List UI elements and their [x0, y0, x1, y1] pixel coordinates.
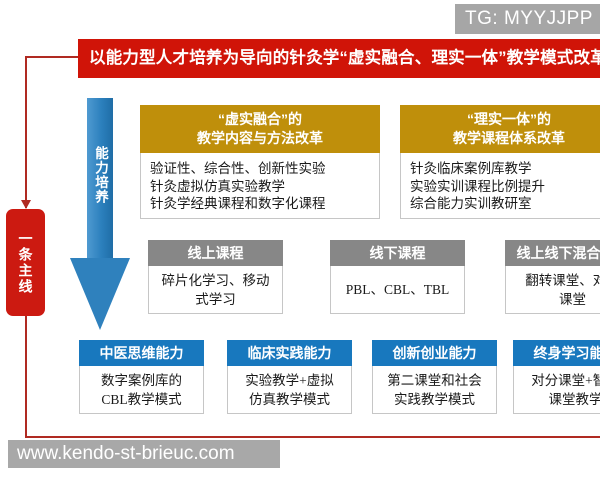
- gray-card-1-body: PBL、CBL、TBL: [330, 266, 465, 314]
- gold-card-0-body-line-2: 针灸学经典课程和数字化课程: [150, 194, 371, 212]
- gray-card-1-header: 线下课程: [330, 240, 465, 266]
- blue-card-2-header: 创新创业能力: [372, 340, 497, 366]
- gray-card-0-body-line-1: 式学习: [154, 290, 277, 309]
- blue-card-3-body-line-0: 对分课堂+智慧: [519, 371, 600, 390]
- gold-card-0-body: 验证性、综合性、创新性实验 针灸虚拟仿真实验教学 针灸学经典课程和数字化课程: [140, 153, 380, 219]
- connector-line-vertical-upper: [25, 56, 27, 208]
- gray-card-2: 线上线下混合课程 翻转课堂、对分 课堂: [505, 240, 600, 314]
- blue-card-1-header: 临床实践能力: [227, 340, 352, 366]
- gray-card-2-body-line-1: 课堂: [511, 290, 600, 309]
- gray-card-0-body-line-0: 碎片化学习、移动: [154, 271, 277, 290]
- main-line-badge: 一条主线: [6, 209, 45, 316]
- capability-arrow: 能力培养: [70, 98, 130, 330]
- blue-card-0-header: 中医思维能力: [79, 340, 204, 366]
- blue-card-0-body-line-0: 数字案例库的: [85, 371, 198, 390]
- gold-card-1-header-line1: “理实一体”的: [467, 110, 551, 129]
- blue-card-3: 终身学习能力 对分课堂+智慧 课堂教学: [513, 340, 600, 414]
- gray-card-1: 线下课程 PBL、CBL、TBL: [330, 240, 465, 314]
- connector-arrow-icon: [21, 200, 31, 209]
- blue-card-1: 临床实践能力 实验教学+虚拟 仿真教学模式: [227, 340, 352, 414]
- blue-card-0: 中医思维能力 数字案例库的 CBL教学模式: [79, 340, 204, 414]
- blue-card-2: 创新创业能力 第二课堂和社会 实践教学模式: [372, 340, 497, 414]
- gold-card-0: “虚实融合”的 教学内容与方法改革 验证性、综合性、创新性实验 针灸虚拟仿真实验…: [140, 105, 380, 220]
- blue-card-2-body-line-0: 第二课堂和社会: [378, 371, 491, 390]
- blue-card-0-body: 数字案例库的 CBL教学模式: [79, 366, 204, 414]
- title-banner: 以能力型人才培养为导向的针灸学“虚实融合、理实一体”教学模式改革: [78, 39, 600, 78]
- blue-card-3-body: 对分课堂+智慧 课堂教学: [513, 366, 600, 414]
- gold-card-0-header: “虚实融合”的 教学内容与方法改革: [140, 105, 380, 153]
- blue-card-1-body: 实验教学+虚拟 仿真教学模式: [227, 366, 352, 414]
- gold-card-1-header: “理实一体”的 教学课程体系改革: [400, 105, 600, 153]
- gray-card-1-body-line-0: PBL、CBL、TBL: [336, 280, 459, 299]
- gray-card-2-header: 线上线下混合课程: [505, 240, 600, 266]
- blue-card-2-body-line-1: 实践教学模式: [378, 390, 491, 409]
- gold-card-1: “理实一体”的 教学课程体系改革 针灸临床案例库教学 实验实训课程比例提升 综合…: [400, 105, 600, 220]
- gray-card-0-body: 碎片化学习、移动 式学习: [148, 266, 283, 314]
- blue-card-1-body-line-1: 仿真教学模式: [233, 390, 346, 409]
- gold-card-1-body-line-2: 综合能力实训教研室: [410, 194, 600, 212]
- blue-card-3-header: 终身学习能力: [513, 340, 600, 366]
- site-watermark: www.kendo-st-brieuc.com: [8, 440, 280, 468]
- gold-card-0-header-line1: “虚实融合”的: [218, 110, 302, 129]
- gold-card-1-header-line2: 教学课程体系改革: [453, 129, 565, 148]
- blue-card-2-body: 第二课堂和社会 实践教学模式: [372, 366, 497, 414]
- arrow-label: 能力培养: [70, 146, 130, 242]
- gold-card-0-header-line2: 教学内容与方法改革: [197, 129, 323, 148]
- gray-card-0-header: 线上课程: [148, 240, 283, 266]
- gold-card-0-body-line-1: 针灸虚拟仿真实验教学: [150, 177, 371, 195]
- gold-card-1-body-line-0: 针灸临床案例库教学: [410, 159, 600, 177]
- blue-card-3-body-line-1: 课堂教学: [519, 390, 600, 409]
- blue-card-1-body-line-0: 实验教学+虚拟: [233, 371, 346, 390]
- connector-line-vertical-lower: [25, 316, 27, 437]
- tg-watermark-badge: TG: MYYJJPP: [455, 4, 600, 34]
- gray-card-2-body: 翻转课堂、对分 课堂: [505, 266, 600, 314]
- gold-card-1-body: 针灸临床案例库教学 实验实训课程比例提升 综合能力实训教研室: [400, 153, 600, 219]
- connector-line-top: [25, 56, 85, 58]
- arrow-head-icon: [70, 258, 130, 330]
- blue-card-0-body-line-1: CBL教学模式: [85, 390, 198, 409]
- gold-card-1-body-line-1: 实验实训课程比例提升: [410, 177, 600, 195]
- gray-card-2-body-line-0: 翻转课堂、对分: [511, 271, 600, 290]
- connector-line-bottom: [25, 436, 600, 438]
- gold-card-0-body-line-0: 验证性、综合性、创新性实验: [150, 159, 371, 177]
- gray-card-0: 线上课程 碎片化学习、移动 式学习: [148, 240, 283, 314]
- slide-canvas: 以能力型人才培养为导向的针灸学“虚实融合、理实一体”教学模式改革 一条主线 能力…: [0, 0, 600, 480]
